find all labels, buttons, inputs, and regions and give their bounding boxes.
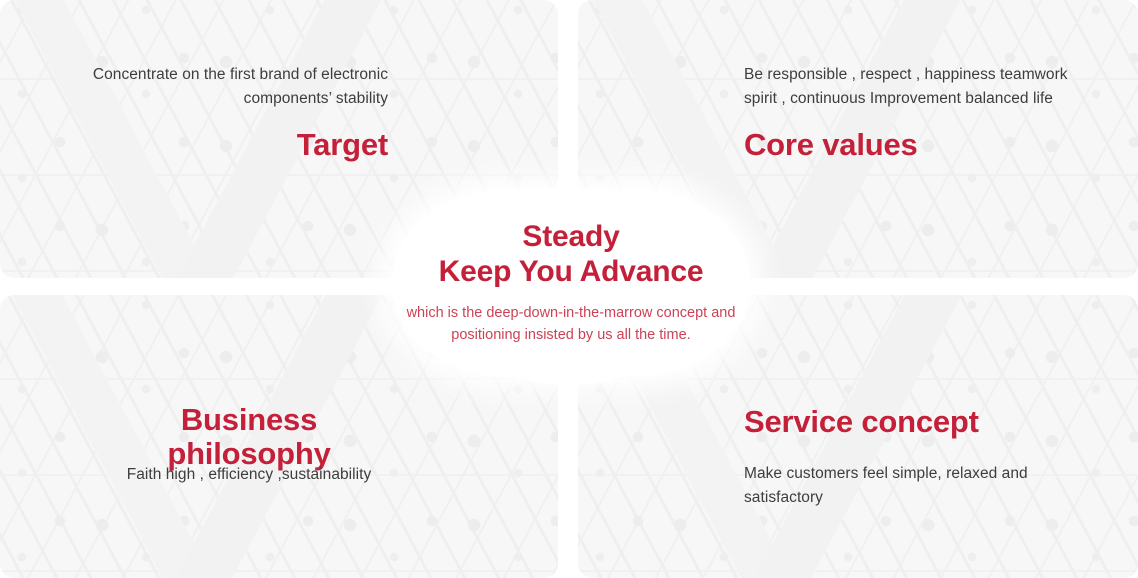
culture-diagram: Concentrate on the first brand of electr…: [0, 0, 1138, 578]
panel-core-values-description: Be responsible , respect , happiness tea…: [744, 63, 1094, 111]
panel-business-philosophy-heading: Business philosophy: [97, 403, 401, 471]
panel-target-description: Concentrate on the first brand of electr…: [58, 63, 388, 111]
panel-business-philosophy-description: Faith high , efficiency ,sustainability: [70, 463, 428, 487]
center-hub: Steady Keep You Advance which is the dee…: [392, 190, 750, 376]
panel-service-concept-heading: Service concept: [744, 405, 979, 439]
panel-core-values-heading: Core values: [744, 128, 918, 162]
hub-subtitle: which is the deep-down-in-the-marrow con…: [406, 302, 736, 346]
panel-service-concept-description: Make customers feel simple, relaxed and …: [744, 462, 1074, 510]
hub-title: Steady Keep You Advance: [439, 220, 704, 290]
panel-target-heading: Target: [297, 128, 388, 162]
